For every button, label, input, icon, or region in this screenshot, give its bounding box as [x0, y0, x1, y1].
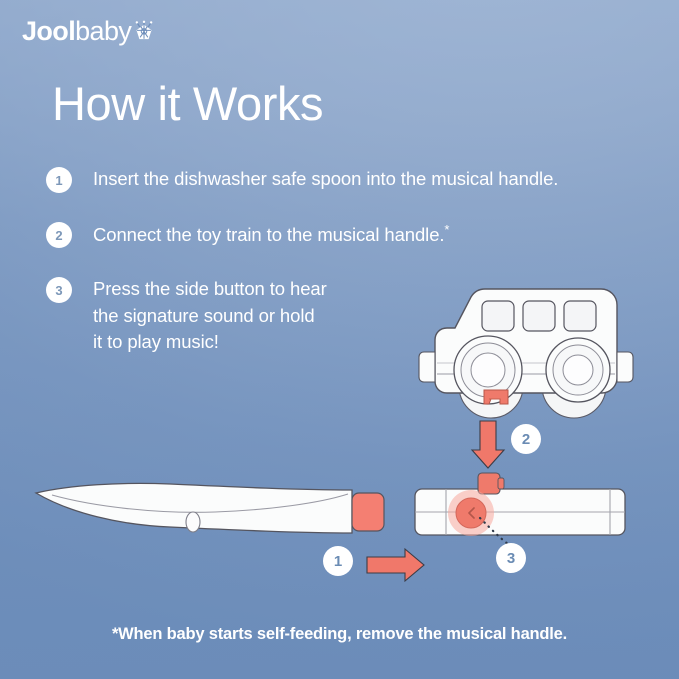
- step-item-1: 1 Insert the dishwasher safe spoon into …: [46, 166, 646, 193]
- diagram-badge-3: 3: [496, 543, 526, 573]
- step-text-3: Press the side button to hear the signat…: [93, 276, 327, 355]
- brand-name-light: baby: [75, 18, 131, 45]
- brand-logo[interactable]: Joolbaby: [22, 16, 155, 46]
- side-button[interactable]: [456, 498, 486, 528]
- diagram-badge-1: 1: [323, 546, 353, 576]
- how-it-works-infographic: Joolbaby How it Works 1 Insert: [0, 0, 679, 679]
- steps-list: 1 Insert the dishwasher safe spoon into …: [46, 166, 646, 383]
- brand-name-bold: Jool: [22, 18, 75, 45]
- ladybug-icon: [133, 20, 155, 42]
- step-badge-1: 1: [46, 167, 72, 193]
- step-item-2: 2 Connect the toy train to the musical h…: [46, 221, 646, 248]
- step-text-2: Connect the toy train to the musical han…: [93, 221, 449, 248]
- step-text-2-body: Connect the toy train to the musical han…: [93, 224, 444, 245]
- step-text-1: Insert the dishwasher safe spoon into th…: [93, 166, 558, 192]
- footer-note: *When baby starts self-feeding, remove t…: [0, 625, 679, 644]
- step-text-2-asterisk: *: [444, 222, 449, 237]
- page-title: How it Works: [52, 78, 323, 130]
- diagram-badge-2: 2: [511, 424, 541, 454]
- step-item-3: 3 Press the side button to hear the sign…: [46, 276, 646, 355]
- step-badge-2: 2: [46, 222, 72, 248]
- step-badge-3: 3: [46, 277, 72, 303]
